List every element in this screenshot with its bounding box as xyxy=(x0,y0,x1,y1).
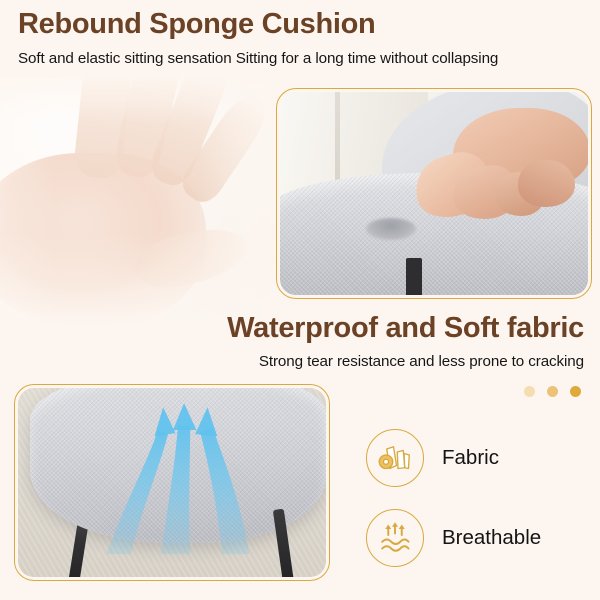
breathable-waves-icon-circle xyxy=(366,509,424,567)
photo-press-test xyxy=(280,92,588,295)
breathable-waves-icon xyxy=(377,522,413,554)
feature-item-fabric: Fabric xyxy=(366,418,541,498)
infographic-canvas: Rebound Sponge Cushion Soft and elastic … xyxy=(0,0,600,600)
section-subtitle-waterproof-soft-fabric: Strong tear resistance and less prone to… xyxy=(259,353,584,370)
photo-frame-airflow xyxy=(14,384,330,581)
photo-hand-on-cushion xyxy=(0,78,290,328)
thumb xyxy=(518,160,575,207)
dot-3 xyxy=(570,386,581,397)
airflow-arrows-graphic xyxy=(104,399,252,554)
section-title-rebound-sponge-cushion: Rebound Sponge Cushion xyxy=(18,8,375,41)
feature-label-breathable: Breathable xyxy=(442,526,541,550)
chair-leg xyxy=(406,258,421,295)
dot-2 xyxy=(547,386,558,397)
dot-1 xyxy=(524,386,535,397)
feature-list: Fabric xyxy=(366,418,541,578)
fabric-roll-icon xyxy=(377,443,413,473)
feature-item-breathable: Breathable xyxy=(366,498,541,578)
fabric-roll-icon-circle xyxy=(366,429,424,487)
pressing-hand xyxy=(403,96,588,242)
feature-label-fabric: Fabric xyxy=(442,446,499,470)
section-subtitle-rebound-sponge-cushion: Soft and elastic sitting sensation Sitti… xyxy=(18,50,498,67)
photo-frame-press-test xyxy=(276,88,592,299)
dot-decoration-bottom xyxy=(524,386,581,397)
section-title-waterproof-soft-fabric: Waterproof and Soft fabric xyxy=(227,312,584,345)
photo-airflow xyxy=(18,388,326,577)
